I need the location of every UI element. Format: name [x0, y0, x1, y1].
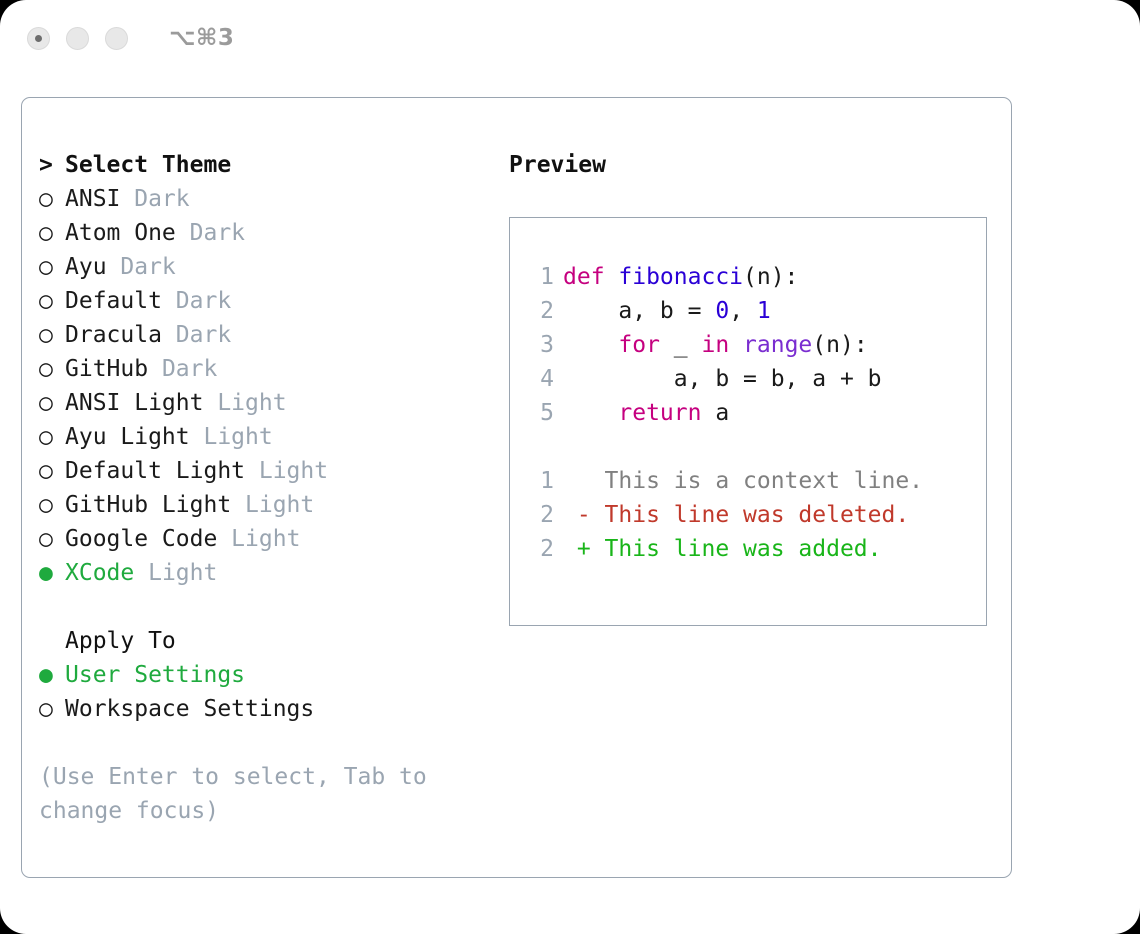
theme-option-label: GitHub Light — [65, 492, 231, 518]
code-line: 5 return a — [510, 396, 986, 430]
code-token: a, b = b, a + b — [563, 366, 882, 392]
theme-variant-label: Dark — [162, 322, 231, 348]
traffic-lights — [27, 27, 128, 50]
theme-option-label: Google Code — [65, 526, 217, 552]
theme-option[interactable]: ○Google Code Light — [39, 522, 492, 556]
theme-option-label: Dracula — [65, 322, 162, 348]
theme-variant-label: Light — [134, 560, 217, 586]
theme-selector-title: >Select Theme — [39, 148, 492, 182]
diff-text: This is a context line. — [605, 468, 924, 494]
theme-option[interactable]: ○Dracula Dark — [39, 318, 492, 352]
keyboard-hint: (Use Enter to select, Tab to change focu… — [39, 760, 459, 828]
apply-to-option[interactable]: ○Workspace Settings — [39, 692, 492, 726]
app-window: ⌥⌘3 >Select Theme ○ANSI Dark○Atom One Da… — [0, 0, 1140, 934]
radio-unselected-icon: ○ — [39, 386, 65, 420]
traffic-light-minimize[interactable] — [66, 27, 89, 50]
code-token: 0 — [715, 298, 729, 324]
line-number: 1 — [530, 260, 554, 294]
traffic-light-maximize[interactable] — [105, 27, 128, 50]
theme-option[interactable]: ○ANSI Dark — [39, 182, 492, 216]
radio-unselected-icon: ○ — [39, 216, 65, 250]
radio-unselected-icon: ○ — [39, 488, 65, 522]
line-number: 2 — [530, 532, 554, 566]
theme-variant-label: Dark — [176, 220, 245, 246]
apply-to-title: Apply To — [39, 624, 492, 658]
radio-unselected-icon: ○ — [39, 182, 65, 216]
theme-variant-label: Dark — [148, 356, 217, 382]
radio-unselected-icon: ○ — [39, 352, 65, 386]
code-token: range — [743, 332, 812, 358]
radio-unselected-icon: ○ — [39, 318, 65, 352]
radio-selected-icon: ● — [39, 556, 65, 590]
theme-option-label: Default — [65, 288, 162, 314]
theme-option-label: GitHub — [65, 356, 148, 382]
theme-option-label: XCode — [65, 560, 134, 586]
code-token: for — [618, 332, 660, 358]
theme-option-label: Ayu — [65, 254, 107, 280]
radio-unselected-icon: ○ — [39, 420, 65, 454]
code-token: a — [701, 400, 729, 426]
radio-unselected-icon: ○ — [39, 284, 65, 318]
theme-option-label: ANSI — [65, 186, 120, 212]
theme-selector-column: >Select Theme ○ANSI Dark○Atom One Dark○A… — [22, 98, 492, 877]
theme-variant-label: Light — [245, 458, 328, 484]
diff-line: 1 This is a context line. — [510, 464, 986, 498]
line-number: 3 — [530, 328, 554, 362]
theme-option[interactable]: ○Default Dark — [39, 284, 492, 318]
theme-option-label: ANSI Light — [65, 390, 203, 416]
code-token: return — [618, 400, 701, 426]
line-number: 4 — [530, 362, 554, 396]
theme-variant-label: Light — [231, 492, 314, 518]
theme-option[interactable]: ○GitHub Light Light — [39, 488, 492, 522]
diff-text: This line was added. — [605, 536, 882, 562]
line-number: 2 — [530, 294, 554, 328]
code-token — [563, 400, 618, 426]
radio-unselected-icon: ○ — [39, 250, 65, 284]
radio-unselected-icon: ○ — [39, 522, 65, 556]
diff-marker: + — [563, 536, 605, 562]
theme-option[interactable]: ○ANSI Light Light — [39, 386, 492, 420]
theme-variant-label: Dark — [162, 288, 231, 314]
apply-to-section: Apply To ●User Settings○Workspace Settin… — [39, 624, 492, 726]
code-line: 1def fibonacci(n): — [510, 260, 986, 294]
main-panel: >Select Theme ○ANSI Dark○Atom One Dark○A… — [21, 97, 1012, 878]
theme-option[interactable]: ●XCode Light — [39, 556, 492, 590]
theme-variant-label: Light — [190, 424, 273, 450]
theme-option-label: Atom One — [65, 220, 176, 246]
code-line: 2 a, b = 0, 1 — [510, 294, 986, 328]
theme-option[interactable]: ○Atom One Dark — [39, 216, 492, 250]
title-bar: ⌥⌘3 — [0, 0, 1140, 76]
code-sample: 1def fibonacci(n):2 a, b = 0, 13 for _ i… — [510, 260, 986, 430]
apply-to-list: ●User Settings○Workspace Settings — [39, 658, 492, 726]
theme-option-label: Default Light — [65, 458, 245, 484]
diff-marker: - — [563, 502, 605, 528]
preview-box: 1def fibonacci(n):2 a, b = 0, 13 for _ i… — [509, 217, 987, 626]
diff-marker — [563, 468, 605, 494]
radio-unselected-icon: ○ — [39, 692, 65, 726]
code-token: 1 — [757, 298, 771, 324]
code-spacer — [510, 430, 986, 464]
preview-column: Preview 1def fibonacci(n):2 a, b = 0, 13… — [492, 98, 1011, 877]
diff-text: This line was deleted. — [605, 502, 910, 528]
line-number: 2 — [530, 498, 554, 532]
radio-selected-icon: ● — [39, 658, 65, 692]
theme-option[interactable]: ○Default Light Light — [39, 454, 492, 488]
apply-to-option-label: User Settings — [65, 662, 245, 688]
theme-variant-label: Light — [203, 390, 286, 416]
keyboard-shortcut-label: ⌥⌘3 — [169, 25, 234, 51]
theme-option-label: Ayu Light — [65, 424, 190, 450]
code-token: , — [729, 298, 757, 324]
code-line: 3 for _ in range(n): — [510, 328, 986, 362]
theme-variant-label: Light — [217, 526, 300, 552]
theme-option[interactable]: ○Ayu Light Light — [39, 420, 492, 454]
code-token: def — [563, 264, 618, 290]
diff-sample: 1 This is a context line.2 - This line w… — [510, 464, 986, 566]
line-number: 5 — [530, 396, 554, 430]
code-token: in — [701, 332, 729, 358]
code-token — [563, 332, 618, 358]
code-line: 4 a, b = b, a + b — [510, 362, 986, 396]
code-token: a, b = — [563, 298, 715, 324]
code-token: _ — [660, 332, 702, 358]
page-title: Select Theme — [65, 152, 231, 178]
code-token — [729, 332, 743, 358]
prompt-marker-icon: > — [39, 148, 65, 182]
apply-to-option-label: Workspace Settings — [65, 696, 314, 722]
radio-unselected-icon: ○ — [39, 454, 65, 488]
preview-title: Preview — [509, 148, 1011, 182]
traffic-light-dot-icon — [35, 35, 42, 42]
diff-line: 2 - This line was deleted. — [510, 498, 986, 532]
code-token: (n): — [743, 264, 798, 290]
code-token: (n): — [812, 332, 867, 358]
theme-variant-label: Dark — [120, 186, 189, 212]
line-number: 1 — [530, 464, 554, 498]
theme-variant-label: Dark — [107, 254, 176, 280]
theme-option[interactable]: ○Ayu Dark — [39, 250, 492, 284]
apply-to-label: Apply To — [65, 628, 176, 654]
apply-to-option[interactable]: ●User Settings — [39, 658, 492, 692]
theme-option[interactable]: ○GitHub Dark — [39, 352, 492, 386]
diff-line: 2 + This line was added. — [510, 532, 986, 566]
theme-list: ○ANSI Dark○Atom One Dark○Ayu Dark○Defaul… — [39, 182, 492, 590]
traffic-light-close[interactable] — [27, 27, 50, 50]
code-token: fibonacci — [618, 264, 743, 290]
